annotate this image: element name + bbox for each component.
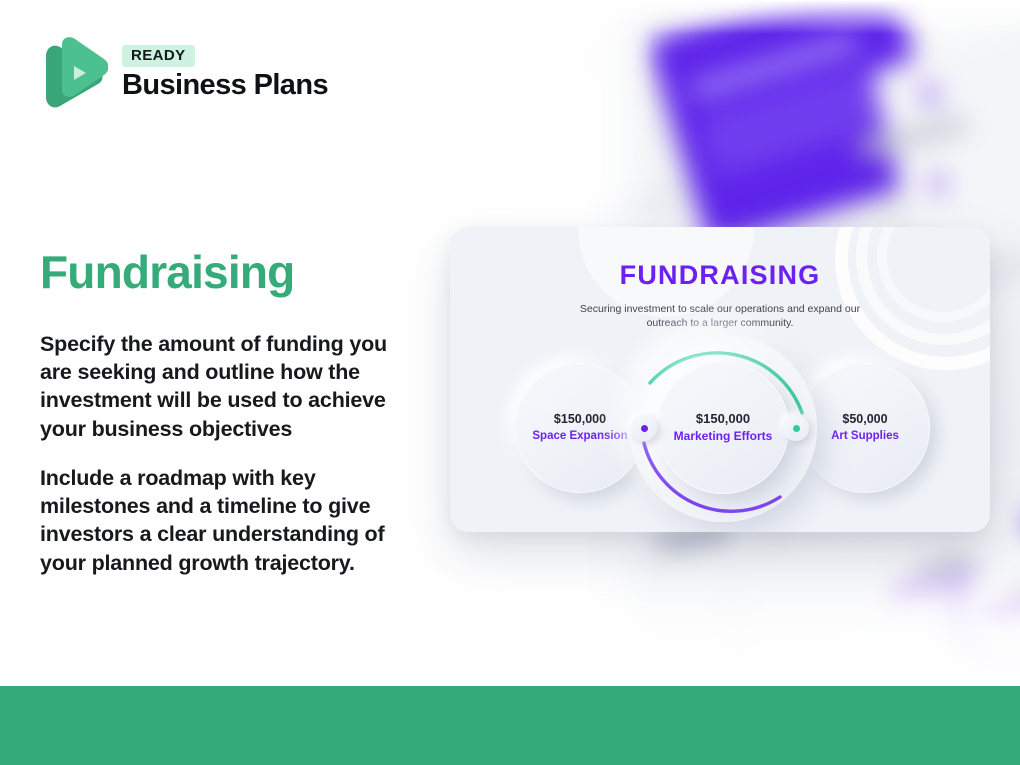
body-paragraph-2: Include a roadmap with key milestones an… — [40, 464, 418, 578]
body-paragraph-1: Specify the amount of funding you are se… — [40, 330, 418, 444]
brand-name: Business Plans — [122, 70, 328, 100]
allocation-category: Art Supplies — [831, 429, 899, 444]
allocation-circles-group: $150,000 Space Expansion $50,000 Art Sup… — [450, 227, 990, 532]
page-title: Fundraising — [40, 247, 294, 298]
knob-left-purple — [631, 415, 657, 441]
knob-right-green — [783, 415, 809, 441]
allocation-amount: $50,000 — [842, 412, 887, 428]
play-triangle-logo-icon — [40, 36, 108, 110]
allocation-category: Marketing Efforts — [674, 429, 773, 445]
footer-bar — [0, 686, 1020, 765]
fundraising-slide-card: FUNDRAISING Securing investment to scale… — [450, 227, 990, 532]
allocation-amount: $150,000 — [554, 412, 606, 428]
allocation-category: Space Expansion — [532, 429, 627, 444]
allocation-amount: $150,000 — [696, 411, 750, 427]
ready-badge: READY — [122, 45, 195, 67]
slide-canvas: READY Business Plans Fundraising Specify… — [0, 0, 1020, 765]
allocation-circle-marketing-efforts: $150,000 Marketing Efforts — [657, 362, 789, 494]
brand-logo-block: READY Business Plans — [40, 36, 328, 110]
